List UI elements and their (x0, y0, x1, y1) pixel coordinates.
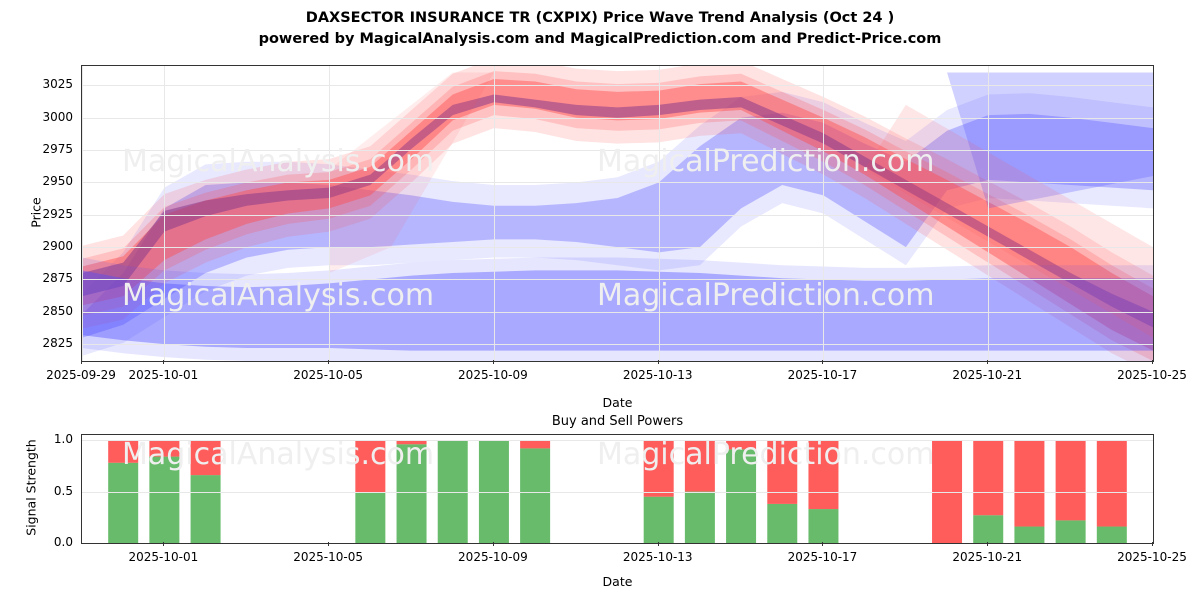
x-tick-mark (81, 360, 82, 364)
price-wave-bands (82, 66, 1153, 361)
buy-power-bar (149, 457, 179, 543)
x-tick-mark (658, 542, 659, 546)
x-tick-mark (328, 360, 329, 364)
gridline (82, 85, 1153, 86)
x-tick-label: 2025-10-01 (129, 368, 199, 382)
x-tick-label: 2025-10-17 (788, 550, 858, 564)
buy-power-bar (1056, 520, 1086, 543)
sell-power-bar (1056, 440, 1086, 520)
sell-power-bar (108, 440, 138, 463)
sell-power-bar (685, 440, 715, 491)
x-tick-mark (163, 542, 164, 546)
buy-power-bar (1014, 527, 1044, 543)
gridline (164, 66, 165, 361)
x-tick-mark (1152, 542, 1153, 546)
gridline (329, 66, 330, 361)
lower-y-axis-label: Signal Strength (24, 423, 39, 553)
sell-power-bar (1097, 440, 1127, 526)
page-title: DAXSECTOR INSURANCE TR (CXPIX) Price Wav… (0, 8, 1200, 50)
sell-power-bar (726, 440, 756, 449)
buy-sell-powers-plot: MagicalAnalysis.com MagicalPrediction.co… (81, 434, 1154, 544)
buy-power-bar (397, 444, 427, 543)
x-tick-mark (987, 542, 988, 546)
sell-power-bar (149, 440, 179, 456)
buy-power-bar (520, 448, 550, 543)
gridline (82, 279, 1153, 280)
gridline (82, 344, 1153, 345)
price-wave-plot: MagicalAnalysis.com MagicalPrediction.co… (81, 65, 1154, 362)
x-tick-mark (822, 360, 823, 364)
x-tick-label: 2025-10-09 (458, 368, 528, 382)
sell-power-bar (767, 440, 797, 504)
x-tick-label: 2025-10-21 (952, 368, 1022, 382)
gridline (82, 182, 1153, 183)
gridline (82, 247, 1153, 248)
sell-power-bar (1014, 440, 1044, 526)
x-tick-mark (1152, 360, 1153, 364)
gridline (823, 66, 824, 361)
x-tick-mark (493, 360, 494, 364)
buy-sell-bars (82, 435, 1153, 543)
gridline (82, 440, 1153, 441)
y-tick-label: 2975 (0, 142, 73, 156)
y-tick-label: 3000 (0, 110, 73, 124)
x-tick-label: 2025-10-05 (293, 550, 363, 564)
buy-power-bar (191, 475, 221, 543)
lower-x-axis-label: Date (81, 574, 1154, 589)
gridline (82, 215, 1153, 216)
upper-x-axis-label: Date (81, 395, 1154, 410)
gridline (988, 66, 989, 361)
x-tick-label: 2025-10-13 (623, 368, 693, 382)
gridline (82, 118, 1153, 119)
buy-power-bar (108, 463, 138, 543)
x-tick-label: 2025-10-09 (458, 550, 528, 564)
x-tick-label: 2025-10-01 (129, 550, 199, 564)
chart-page: DAXSECTOR INSURANCE TR (CXPIX) Price Wav… (0, 0, 1200, 600)
sell-power-bar (355, 440, 385, 492)
gridline (1153, 66, 1154, 361)
title-line-2: powered by MagicalAnalysis.com and Magic… (0, 29, 1200, 50)
x-tick-mark (987, 360, 988, 364)
sell-power-bar (808, 440, 838, 509)
x-tick-label: 2025-10-25 (1117, 368, 1187, 382)
gridline (82, 312, 1153, 313)
x-tick-label: 2025-10-17 (788, 368, 858, 382)
buy-power-bar (726, 449, 756, 543)
y-tick-label: 2875 (0, 271, 73, 285)
x-tick-label: 2025-10-25 (1117, 550, 1187, 564)
title-line-1: DAXSECTOR INSURANCE TR (CXPIX) Price Wav… (0, 8, 1200, 29)
x-tick-mark (163, 360, 164, 364)
buy-power-bar (685, 492, 715, 543)
gridline (82, 543, 1153, 544)
gridline (659, 66, 660, 361)
x-tick-label: 2025-10-13 (623, 550, 693, 564)
x-tick-label: 2025-09-29 (46, 368, 116, 382)
x-tick-mark (328, 542, 329, 546)
gridline (82, 492, 1153, 493)
x-tick-label: 2025-10-05 (293, 368, 363, 382)
gridline (82, 66, 83, 361)
sell-power-bar (191, 440, 221, 475)
gridline (82, 150, 1153, 151)
upper-y-axis-label: Price (29, 173, 44, 253)
x-tick-label: 2025-10-21 (952, 550, 1022, 564)
y-tick-label: 2825 (0, 336, 73, 350)
x-tick-mark (822, 542, 823, 546)
sell-power-bar (973, 440, 1003, 515)
buy-power-bar (808, 509, 838, 543)
x-tick-mark (493, 542, 494, 546)
buy-power-bar (355, 493, 385, 543)
x-tick-mark (658, 360, 659, 364)
lower-chart-title: Buy and Sell Powers (81, 414, 1154, 429)
gridline (494, 66, 495, 361)
buy-power-bar (767, 504, 797, 543)
buy-power-bar (973, 515, 1003, 543)
sell-power-bar (520, 440, 550, 448)
y-tick-label: 3025 (0, 77, 73, 91)
sell-power-bar (644, 440, 674, 497)
buy-power-bar (644, 497, 674, 543)
buy-power-bar (1097, 527, 1127, 543)
y-tick-label: 2850 (0, 304, 73, 318)
